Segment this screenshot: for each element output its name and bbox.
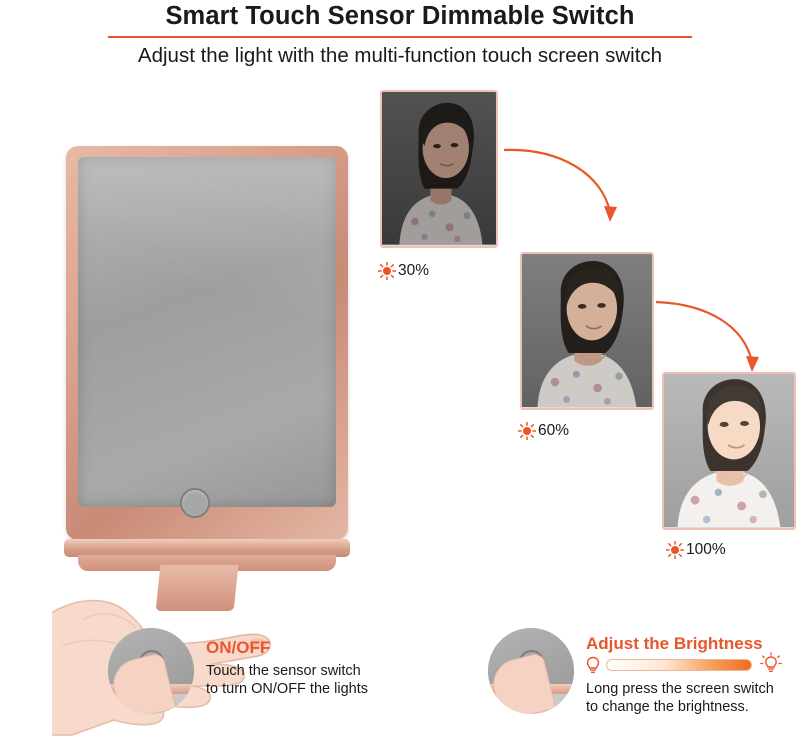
panel-on-off: ON/OFF Touch the sensor switch to turn O… xyxy=(108,628,408,720)
panel-brightness-text-line1: Long press the screen switch xyxy=(586,680,800,698)
panel-on-off-heading: ON/OFF xyxy=(206,638,270,658)
finger-touch-icon xyxy=(108,628,194,714)
lighted-vanity-mirror xyxy=(58,140,358,610)
page-subtitle: Adjust the light with the multi-function… xyxy=(0,44,800,68)
mirror-glass-highlight xyxy=(78,157,336,507)
mirror-glass xyxy=(78,157,336,507)
sun-icon xyxy=(378,262,396,280)
product-infographic: Smart Touch Sensor Dimmable Switch Adjus… xyxy=(0,0,800,730)
sun-icon xyxy=(518,422,536,440)
mirror-frame xyxy=(66,146,348,540)
panel-brightness-text-line2: to change the brightness. xyxy=(586,698,800,716)
brightness-photo-60 xyxy=(520,252,654,410)
brightness-photo-100 xyxy=(662,372,796,530)
arrow-30-to-60 xyxy=(498,140,628,245)
panel-on-off-text-line2: to turn ON/OFF the lights xyxy=(206,680,416,698)
bulb-bright-icon xyxy=(760,652,782,681)
brightness-slider[interactable] xyxy=(606,659,752,671)
brightness-label-60: 60% xyxy=(538,422,569,440)
brightness-label-100: 100% xyxy=(686,541,726,559)
panel-brightness: Adjust the Brightness xyxy=(488,628,798,720)
brightness-label-30: 30% xyxy=(398,262,429,280)
panel-brightness-heading: Adjust the Brightness xyxy=(586,634,763,654)
panel-on-off-text-line1: Touch the sensor switch xyxy=(206,662,406,680)
sun-icon xyxy=(666,541,684,559)
brightness-photo-30 xyxy=(380,90,498,248)
finger-touch-icon xyxy=(488,628,574,714)
page-title: Smart Touch Sensor Dimmable Switch xyxy=(0,2,800,31)
title-divider xyxy=(108,36,692,38)
touch-sensor-button[interactable] xyxy=(180,488,210,518)
bulb-dim-icon xyxy=(586,656,600,679)
